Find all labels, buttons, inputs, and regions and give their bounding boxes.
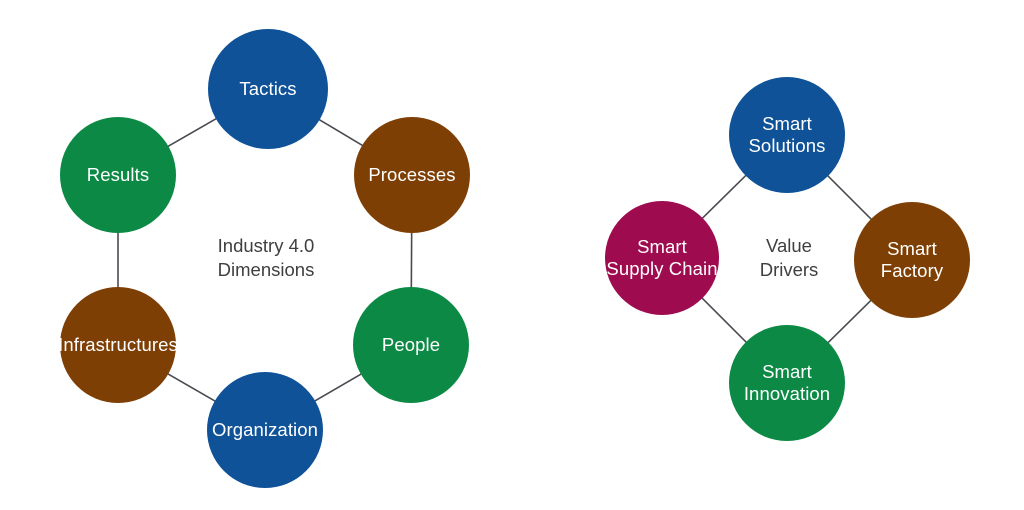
node-people[interactable]: People: [353, 287, 469, 403]
node-results[interactable]: Results: [60, 117, 176, 233]
node-label-organization: Organization: [212, 419, 318, 441]
node-label-smart-factory: Smart Factory: [881, 238, 943, 282]
connector-smart-factory-to-smart-innovation: [828, 300, 872, 343]
node-smart-solutions[interactable]: Smart Solutions: [729, 77, 845, 193]
diagram-canvas: Industry 4.0 DimensionsTacticsProcessesP…: [0, 0, 1024, 510]
node-label-results: Results: [87, 164, 149, 186]
node-label-smart-supply-chain: Smart Supply Chain: [606, 236, 717, 280]
hub-label-industry-40-dimensions: Industry 4.0 Dimensions: [136, 234, 396, 283]
node-label-smart-solutions: Smart Solutions: [748, 113, 825, 157]
node-label-people: People: [382, 334, 440, 356]
node-infrastructures[interactable]: Infrastructures: [60, 287, 176, 403]
connector-people-to-organization: [314, 374, 361, 402]
node-label-infrastructures: Infrastructures: [58, 334, 178, 356]
node-label-processes: Processes: [368, 164, 455, 186]
connector-smart-supply-chain-to-smart-solutions: [702, 175, 746, 219]
connector-smart-innovation-to-smart-supply-chain: [702, 298, 747, 343]
node-tactics[interactable]: Tactics: [208, 29, 328, 149]
node-label-tactics: Tactics: [239, 78, 296, 100]
node-label-smart-innovation: Smart Innovation: [744, 361, 830, 405]
node-smart-supply-chain[interactable]: Smart Supply Chain: [605, 201, 719, 315]
node-organization[interactable]: Organization: [207, 372, 323, 488]
connector-organization-to-infrastructures: [167, 374, 215, 402]
connector-smart-solutions-to-smart-factory: [827, 175, 871, 219]
connector-results-to-tactics: [167, 118, 216, 146]
node-processes[interactable]: Processes: [354, 117, 470, 233]
node-smart-innovation[interactable]: Smart Innovation: [729, 325, 845, 441]
connector-tactics-to-processes: [319, 119, 363, 146]
node-smart-factory[interactable]: Smart Factory: [854, 202, 970, 318]
